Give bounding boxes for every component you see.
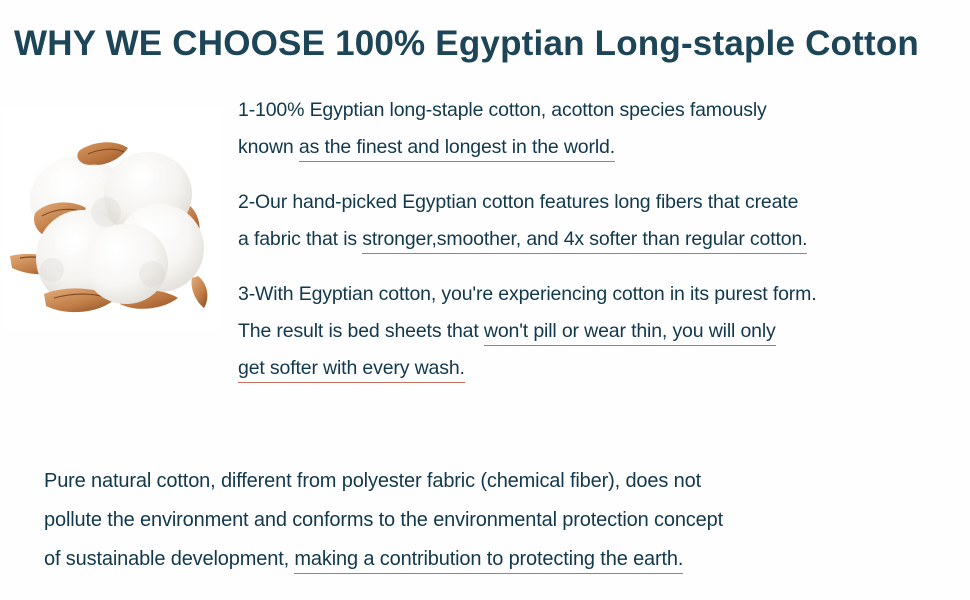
point-3-line-3: get softer with every wash.	[238, 350, 960, 387]
text-plain: The result is bed sheets that	[238, 320, 484, 342]
text-plain: of sustainable development,	[44, 548, 294, 570]
text-plain: 3-With Egyptian cotton, you're experienc…	[238, 283, 817, 305]
text-plain: pollute the environment and conforms to …	[44, 509, 723, 531]
point-3-line-2: The result is bed sheets that won't pill…	[238, 313, 960, 350]
text-underlined: get softer with every wash.	[238, 357, 465, 383]
text-underlined: making a contribution to protecting the …	[294, 548, 683, 574]
point-3: 3-With Egyptian cotton, you're experienc…	[238, 276, 960, 387]
page-title: WHY WE CHOOSE 100% Egyptian Long-staple …	[14, 22, 959, 66]
text-underlined: won't pill or wear thin, you will only	[484, 320, 776, 346]
point-2: 2-Our hand-picked Egyptian cotton featur…	[238, 184, 960, 258]
point-1: 1-100% Egyptian long-staple cotton, acot…	[238, 92, 960, 166]
cotton-boll-icon	[2, 108, 222, 330]
text-plain: 1-100% Egyptian long-staple cotton, acot…	[238, 99, 767, 121]
summary-line-2: pollute the environment and conforms to …	[44, 501, 960, 540]
text-plain: known	[238, 136, 299, 158]
point-2-line-1: 2-Our hand-picked Egyptian cotton featur…	[238, 184, 960, 221]
cotton-boll-image	[2, 108, 222, 330]
text-underlined: stronger,smoother, and 4x softer than re…	[362, 228, 807, 254]
text-underlined: as the finest and longest in the world.	[299, 136, 615, 162]
summary-line-1: Pure natural cotton, different from poly…	[44, 462, 960, 501]
infographic-page: WHY WE CHOOSE 100% Egyptian Long-staple …	[0, 0, 970, 600]
summary-line-3: of sustainable development, making a con…	[44, 540, 960, 579]
text-plain: Pure natural cotton, different from poly…	[44, 470, 701, 492]
text-plain: 2-Our hand-picked Egyptian cotton featur…	[238, 191, 798, 213]
summary-paragraph: Pure natural cotton, different from poly…	[44, 462, 960, 579]
point-3-line-1: 3-With Egyptian cotton, you're experienc…	[238, 276, 960, 313]
point-1-line-1: 1-100% Egyptian long-staple cotton, acot…	[238, 92, 960, 129]
text-plain: a fabric that is	[238, 228, 362, 250]
points-column: 1-100% Egyptian long-staple cotton, acot…	[238, 92, 960, 387]
point-2-line-2: a fabric that is stronger,smoother, and …	[238, 221, 960, 258]
point-1-line-2: known as the finest and longest in the w…	[238, 129, 960, 166]
